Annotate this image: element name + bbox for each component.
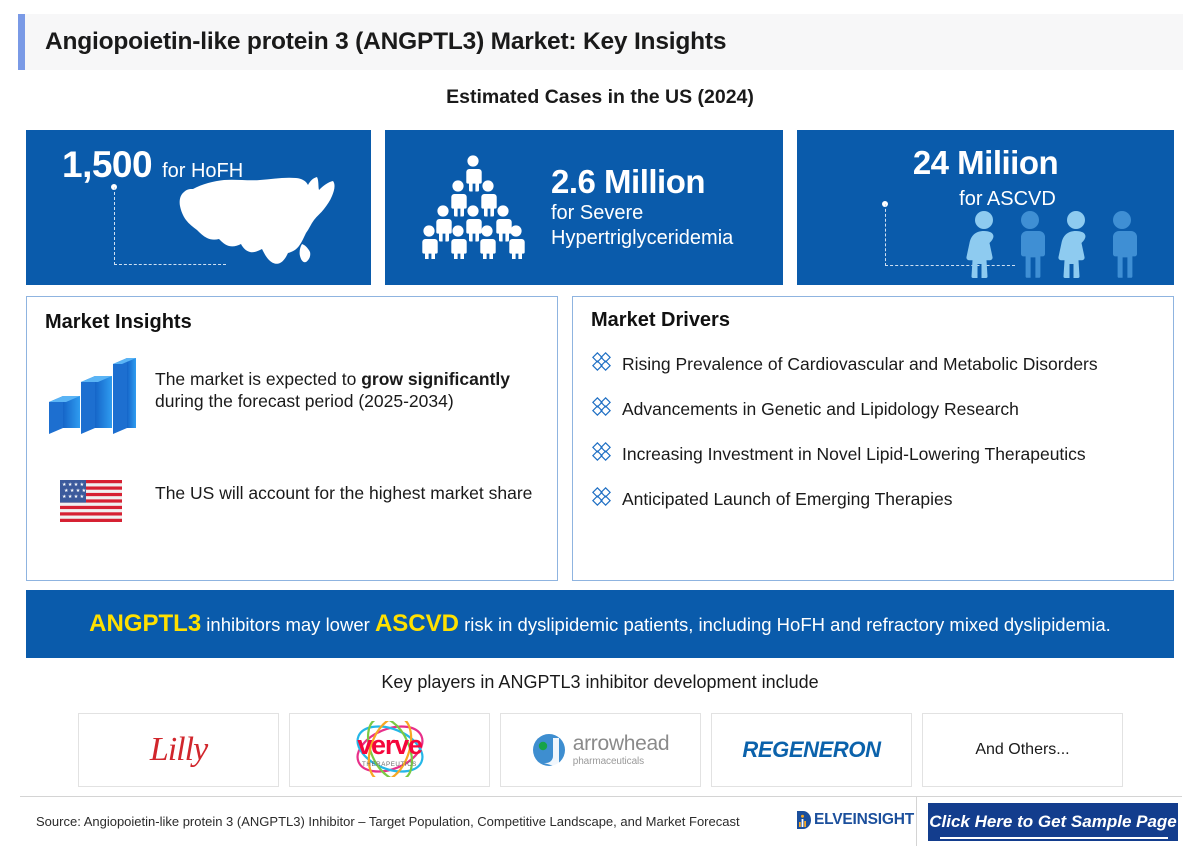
highlight-text: ANGPTL3 inhibitors may lower ASCVD risk … (89, 607, 1111, 642)
market-driver-text: Increasing Investment in Novel Lipid-Low… (622, 444, 1086, 465)
stat-htg-value: 2.6 Million (551, 163, 733, 201)
highlight-mid1: inhibitors may lower (201, 614, 375, 635)
market-drivers-title: Market Drivers (591, 309, 1155, 332)
verve-wordmark: verve (357, 732, 422, 759)
us-flag-icon: ★ ★ ★ ★ ★ ★ ★ ★ ★ ★ ★ ★ (45, 480, 137, 522)
arrowhead-wordmark-block: arrowhead pharmaceuticals (573, 733, 670, 767)
regeneron-logo: REGENERON (742, 737, 880, 763)
market-insights-title: Market Insights (45, 311, 539, 334)
footer-vertical-divider (916, 797, 917, 846)
stat-htg-label-line1: for Severe (551, 201, 733, 227)
header-bar: Angiopoietin-like protein 3 (ANGPTL3) Ma… (18, 14, 1183, 70)
page-title: Angiopoietin-like protein 3 (ANGPTL3) Ma… (25, 28, 726, 56)
cta-underline (940, 837, 1168, 839)
player-card-others: And Others... (922, 713, 1123, 787)
source-text: Source: Angiopoietin-like protein 3 (ANG… (0, 814, 740, 829)
diamond-cluster-icon (591, 396, 612, 422)
highlight-mid2: risk in dyslipidemic patients, including… (459, 614, 1111, 635)
market-insight-text: The market is expected to grow significa… (155, 356, 539, 413)
arrowhead-mark (532, 733, 566, 767)
us-map-icon (156, 172, 351, 281)
market-driver-text: Rising Prevalence of Cardiovascular and … (622, 354, 1098, 375)
svg-text:★ ★ ★ ★: ★ ★ ★ ★ (62, 494, 85, 500)
market-insight-item: ★ ★ ★ ★ ★ ★ ★ ★ ★ ★ ★ ★ The US will acco… (45, 480, 539, 522)
diamond-cluster-icon (591, 486, 612, 512)
diamond-cluster-icon (591, 441, 612, 467)
highlight-keyword-angptl3: ANGPTL3 (89, 610, 201, 637)
market-insight-text: The US will account for the highest mark… (155, 480, 532, 504)
delveinsight-d-icon (796, 810, 813, 830)
arrowhead-wordmark: arrowhead (573, 733, 670, 754)
insight-text-bold: grow significantly (361, 369, 510, 389)
stat-ascvd-value: 24 Miliion (913, 144, 1058, 181)
stat-htg-text: 2.6 Million for Severe Hypertriglyceride… (551, 163, 733, 252)
delveinsight-logo: ELVEINSIGHT (796, 810, 914, 830)
section-subtitle: Estimated Cases in the US (2024) (0, 86, 1200, 109)
stat-card-hofh: 1,500 for HoFH (26, 130, 371, 285)
stat-ascvd-heading: 24 Miliion (797, 144, 1174, 182)
arrowhead-tagline: pharmaceuticals (573, 757, 670, 767)
panels-row: Market Insights (26, 296, 1174, 581)
bar-chart-icon (45, 356, 137, 436)
stats-row: 1,500 for HoFH (26, 130, 1174, 285)
stat-card-ascvd: 24 Miliion for ASCVD (797, 130, 1174, 285)
player-card-verve: verve THERAPEUTICS (289, 713, 490, 787)
verve-tagline: THERAPEUTICS (362, 761, 417, 768)
insight-text-part1: The market is expected to (155, 369, 361, 389)
others-text: And Others... (975, 741, 1069, 759)
stat-htg-label-line2: Hypertriglyceridemia (551, 226, 733, 252)
market-driver-text: Advancements in Genetic and Lipidology R… (622, 399, 1019, 420)
verve-logo: verve THERAPEUTICS (332, 721, 448, 779)
player-card-arrowhead: arrowhead pharmaceuticals (500, 713, 701, 787)
infographic-page: Angiopoietin-like protein 3 (ANGPTL3) Ma… (0, 0, 1200, 846)
market-driver-item: Anticipated Launch of Emerging Therapies (591, 486, 1155, 512)
market-insights-panel: Market Insights (26, 296, 558, 581)
insight-text-part2: during the forecast period (2025-2034) (155, 391, 454, 411)
market-driver-item: Increasing Investment in Novel Lipid-Low… (591, 441, 1155, 467)
diamond-cluster-icon (591, 351, 612, 377)
highlight-banner: ANGPTL3 inhibitors may lower ASCVD risk … (26, 590, 1174, 658)
player-card-lilly: Lilly (78, 713, 279, 787)
people-group-icon (962, 210, 1152, 283)
stat-hofh-value: 1,500 (62, 144, 152, 186)
stat-ascvd-label: for ASCVD (819, 188, 1174, 211)
arrowhead-logo: arrowhead pharmaceuticals (532, 733, 670, 767)
highlight-keyword-ascvd: ASCVD (375, 610, 459, 637)
delveinsight-wordmark: ELVEINSIGHT (814, 811, 914, 829)
player-card-regeneron: REGENERON (711, 713, 912, 787)
market-drivers-panel: Market Drivers Rising Prevalence of Card… (572, 296, 1174, 581)
stat-card-hypertriglyceridemia: 2.6 Million for Severe Hypertriglyceride… (385, 130, 783, 285)
lilly-logo: Lilly (150, 731, 207, 769)
connector-line-vertical (114, 187, 115, 265)
key-players-label: Key players in ANGPTL3 inhibitor develop… (0, 672, 1200, 693)
market-insight-item: The market is expected to grow significa… (45, 356, 539, 436)
market-driver-text: Anticipated Launch of Emerging Therapies (622, 489, 952, 510)
get-sample-page-button[interactable]: Click Here to Get Sample Page (928, 803, 1178, 841)
market-driver-item: Rising Prevalence of Cardiovascular and … (591, 351, 1155, 377)
header-accent-bar (18, 14, 25, 70)
key-players-row: Lilly verve THERAPEUTICS (78, 713, 1123, 787)
people-pyramid-icon (419, 151, 527, 264)
connector-line-vertical (885, 204, 886, 266)
market-driver-item: Advancements in Genetic and Lipidology R… (591, 396, 1155, 422)
